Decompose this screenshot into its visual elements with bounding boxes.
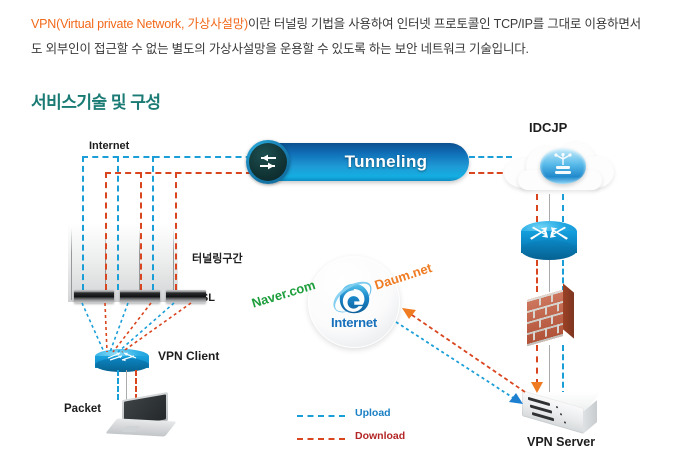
download-branch-line bbox=[175, 172, 177, 290]
legend-swatch-download bbox=[297, 438, 345, 440]
intro-highlight: VPN(Virtual private Network, 가상사설망) bbox=[31, 17, 248, 31]
tunneling-banner: Tunneling bbox=[253, 143, 469, 181]
cloud-to-router-upload bbox=[562, 194, 564, 222]
server-led bbox=[564, 421, 566, 424]
download-arrowhead bbox=[402, 308, 416, 319]
laptop bbox=[110, 396, 174, 442]
router-to-firewall-link bbox=[549, 260, 550, 292]
vpn-server-label: VPN Server bbox=[527, 435, 595, 449]
download-branch-line bbox=[105, 172, 107, 290]
upload-trunk-line bbox=[82, 156, 262, 158]
page-title: 서비스기술 및 구성 bbox=[31, 88, 161, 113]
tunneling-zone-band bbox=[68, 212, 178, 302]
download-trunk-line bbox=[105, 172, 262, 174]
upload-branch-line bbox=[152, 156, 154, 290]
internet-globe-label: Internet bbox=[331, 315, 377, 330]
idc-cloud bbox=[504, 140, 614, 192]
vpn-server bbox=[522, 392, 602, 432]
upload-diagonal-line bbox=[396, 322, 515, 399]
brick-mortar bbox=[539, 318, 541, 327]
server-led bbox=[556, 406, 558, 409]
cloud-to-router-download bbox=[536, 194, 538, 222]
server-led bbox=[560, 413, 562, 416]
legend-item-download: Download bbox=[297, 430, 417, 447]
network-stack-icon bbox=[548, 153, 578, 179]
tunnel-zone-label: 터널링구간 bbox=[192, 250, 243, 266]
internet-label: Internet bbox=[89, 140, 129, 152]
upload-arrowhead bbox=[509, 393, 523, 404]
brick-mortar bbox=[539, 296, 541, 305]
brick-mortar bbox=[533, 331, 535, 340]
idcjp-label: IDCJP bbox=[529, 120, 567, 135]
download-diagonal-line bbox=[409, 313, 525, 392]
arrows-glyph bbox=[255, 152, 281, 172]
idc-dome bbox=[540, 148, 586, 184]
router-to-firewall-download bbox=[536, 260, 538, 292]
router-arrows-icon bbox=[527, 223, 571, 245]
upload-branch-line bbox=[117, 156, 119, 290]
modem-to-client-links bbox=[60, 300, 200, 356]
brick-mortar bbox=[551, 315, 553, 324]
download-branch-line bbox=[140, 172, 142, 290]
idc-router bbox=[521, 221, 577, 261]
upload-branch-line bbox=[82, 156, 84, 290]
bidirectional-arrows-icon bbox=[246, 140, 290, 184]
brick-mortar bbox=[533, 309, 535, 318]
brick-mortar bbox=[557, 324, 559, 333]
firewall-brick-face bbox=[527, 290, 563, 346]
brick-mortar bbox=[557, 302, 559, 311]
internet-globe: Internet bbox=[308, 256, 400, 348]
legend-item-upload: Upload bbox=[297, 407, 417, 424]
legend-label-upload: Upload bbox=[355, 407, 391, 419]
brick-mortar bbox=[545, 306, 547, 315]
legend: Upload Download bbox=[297, 407, 417, 447]
bidirectional-arrows-inner bbox=[249, 143, 287, 181]
firewall-to-server-download bbox=[536, 345, 538, 385]
cloud-to-router-link bbox=[549, 194, 550, 222]
naver-label: Naver.com bbox=[250, 277, 317, 311]
firewall-side bbox=[563, 283, 574, 338]
firewall-to-server-upload bbox=[562, 345, 564, 397]
legend-swatch-upload bbox=[297, 415, 345, 417]
intro-paragraph: VPN(Virtual private Network, 가상사설망)이란 터널… bbox=[31, 12, 646, 62]
packet-label: Packet bbox=[64, 403, 101, 415]
firewall bbox=[527, 289, 575, 345]
laptop-keyboard-base bbox=[105, 418, 176, 436]
firewall-to-server-link bbox=[549, 345, 550, 397]
internet-explorer-icon bbox=[331, 279, 377, 317]
tunneling-title: Tunneling bbox=[313, 143, 459, 181]
brick-mortar bbox=[545, 328, 547, 337]
tunnel-edge-line bbox=[71, 228, 72, 300]
brick-mortar bbox=[551, 293, 553, 302]
legend-label-download: Download bbox=[355, 430, 405, 442]
